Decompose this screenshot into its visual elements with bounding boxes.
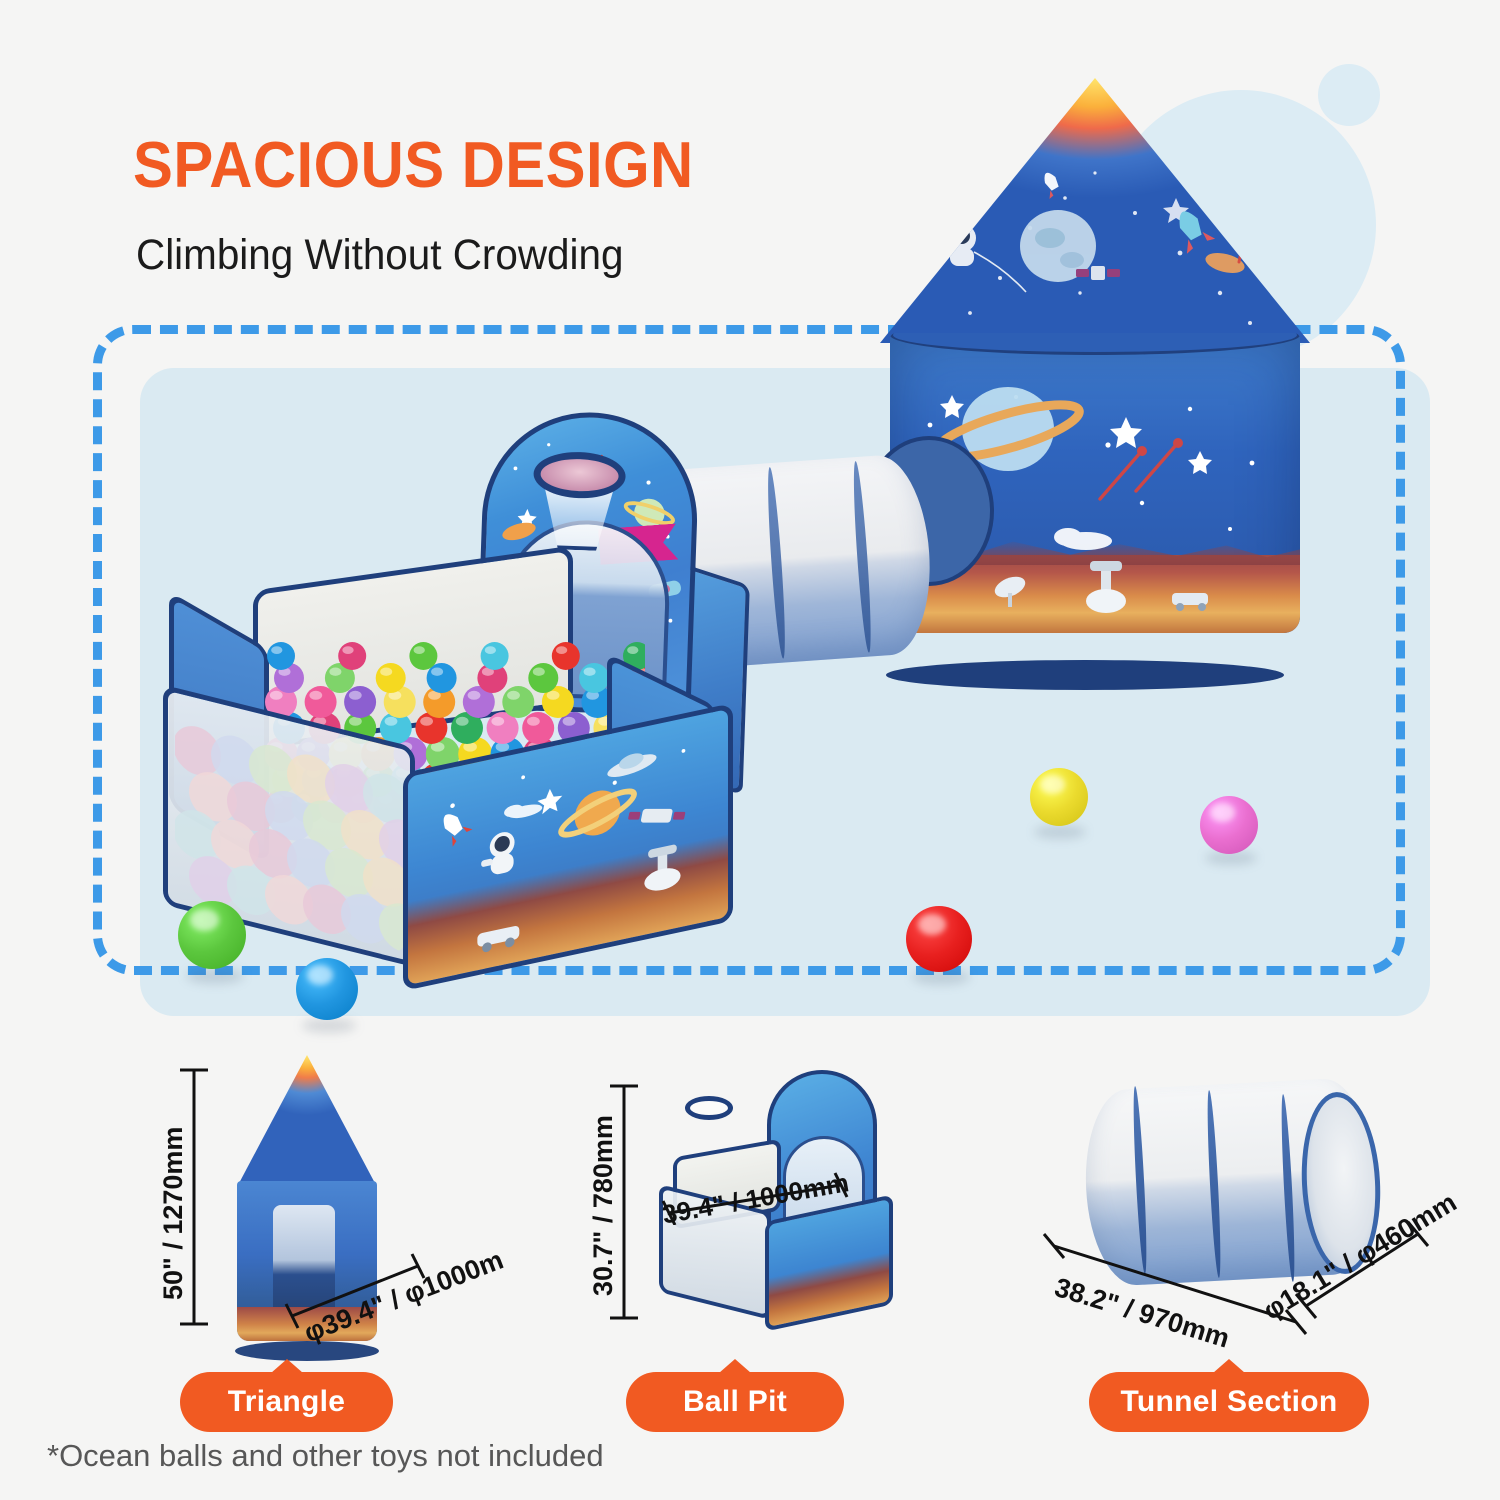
decorative-circle-small bbox=[1318, 64, 1380, 126]
red-ball bbox=[906, 906, 972, 972]
page-title: SPACIOUS DESIGN bbox=[133, 132, 694, 197]
yellow-ball bbox=[1030, 768, 1088, 826]
cone-space-print bbox=[880, 78, 1310, 343]
footnote: *Ocean balls and other toys not included bbox=[47, 1438, 604, 1474]
badge-ball-pit[interactable]: Ball Pit bbox=[626, 1372, 844, 1432]
ballpit-thumb-hoop bbox=[685, 1096, 733, 1120]
hero-product-image bbox=[140, 368, 1430, 1016]
infographic-root: SPACIOUS DESIGN Climbing Without Crowdin… bbox=[0, 0, 1500, 1500]
triangle-height-label: 50" / 1270mm bbox=[158, 1127, 189, 1300]
rocket-tent bbox=[880, 78, 1310, 678]
badge-triangle[interactable]: Triangle bbox=[180, 1372, 393, 1432]
blue-ball bbox=[296, 958, 358, 1020]
badge-tunnel-section[interactable]: Tunnel Section bbox=[1089, 1372, 1369, 1432]
triangle-thumb-cone bbox=[237, 1055, 377, 1187]
ball-shadow bbox=[1034, 825, 1086, 839]
ball-pit bbox=[175, 568, 695, 988]
page-subtitle: Climbing Without Crowding bbox=[136, 234, 623, 277]
rocket-tent-floor bbox=[886, 660, 1284, 690]
ball-shadow bbox=[186, 968, 244, 984]
pink-ball bbox=[1200, 796, 1258, 854]
ball-shadow bbox=[302, 1018, 356, 1033]
ballpit-height-label: 30.7" / 780mm bbox=[588, 1115, 619, 1296]
triangle-thumb-floor bbox=[235, 1341, 379, 1361]
green-ball bbox=[178, 901, 246, 969]
